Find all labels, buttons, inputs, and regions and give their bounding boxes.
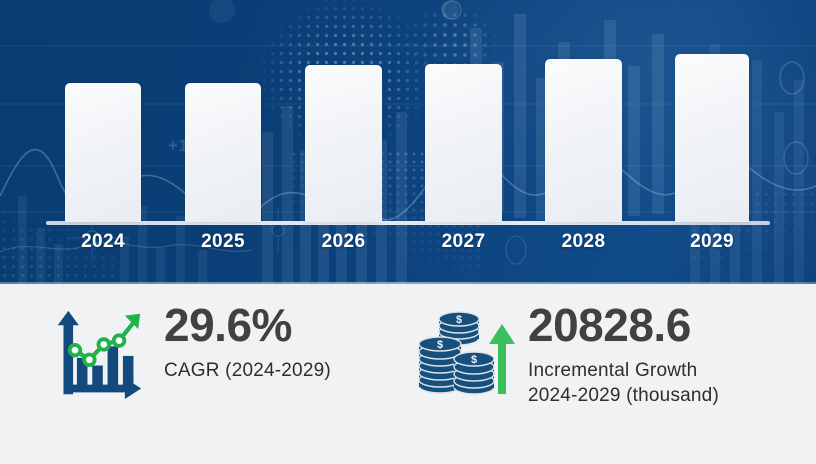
stat-incremental-growth-body: 20828.6 Incremental Growth 2024-2029 (th…: [528, 298, 719, 408]
chart-panel: +1 202420252026202720282029: [0, 0, 816, 284]
stat-incremental-growth-caption: Incremental Growth 2024-2029 (thousand): [528, 358, 719, 408]
chart-bar: [185, 83, 261, 222]
coin-stacks-arrow-icon: $ $ $: [415, 308, 515, 404]
bar-chart-growth-icon: [50, 308, 146, 400]
market-growth-infographic: +1 202420252026202720282029: [0, 0, 816, 464]
stats-panel: 29.6% CAGR (2024-2029): [0, 284, 816, 464]
chart-bar: [305, 65, 382, 222]
stat-cagr-value: 29.6%: [164, 298, 331, 352]
stat-cagr-caption: CAGR (2024-2029): [164, 358, 331, 383]
chart-x-axis-label: 2026: [289, 231, 399, 253]
chart-bar: [65, 83, 141, 222]
chart-bar: [675, 54, 749, 222]
chart-x-axis-label: 2024: [48, 231, 158, 253]
stat-cagr-body: 29.6% CAGR (2024-2029): [164, 298, 331, 383]
bar-chart-plot-area: 202420252026202720282029: [0, 0, 816, 284]
stat-cagr: 29.6% CAGR (2024-2029): [40, 284, 410, 464]
chart-axis-line: [46, 221, 770, 225]
chart-bar: [545, 59, 622, 222]
stat-incremental-growth-caption-line2: 2024-2029 (thousand): [528, 383, 719, 408]
stat-incremental-growth: $ $ $ 20828.6 Incremental Growth 2024-20…: [410, 284, 810, 464]
svg-text:$: $: [456, 314, 462, 326]
stat-incremental-growth-value: 20828.6: [528, 298, 719, 352]
svg-text:$: $: [437, 339, 443, 351]
svg-text:$: $: [471, 354, 477, 366]
chart-x-axis-label: 2025: [168, 231, 278, 253]
chart-bar: [425, 64, 502, 222]
chart-x-axis-label: 2028: [529, 231, 639, 253]
stat-incremental-growth-caption-line1: Incremental Growth: [528, 358, 719, 383]
chart-x-axis-label: 2027: [409, 231, 519, 253]
chart-x-axis-label: 2029: [657, 231, 767, 253]
